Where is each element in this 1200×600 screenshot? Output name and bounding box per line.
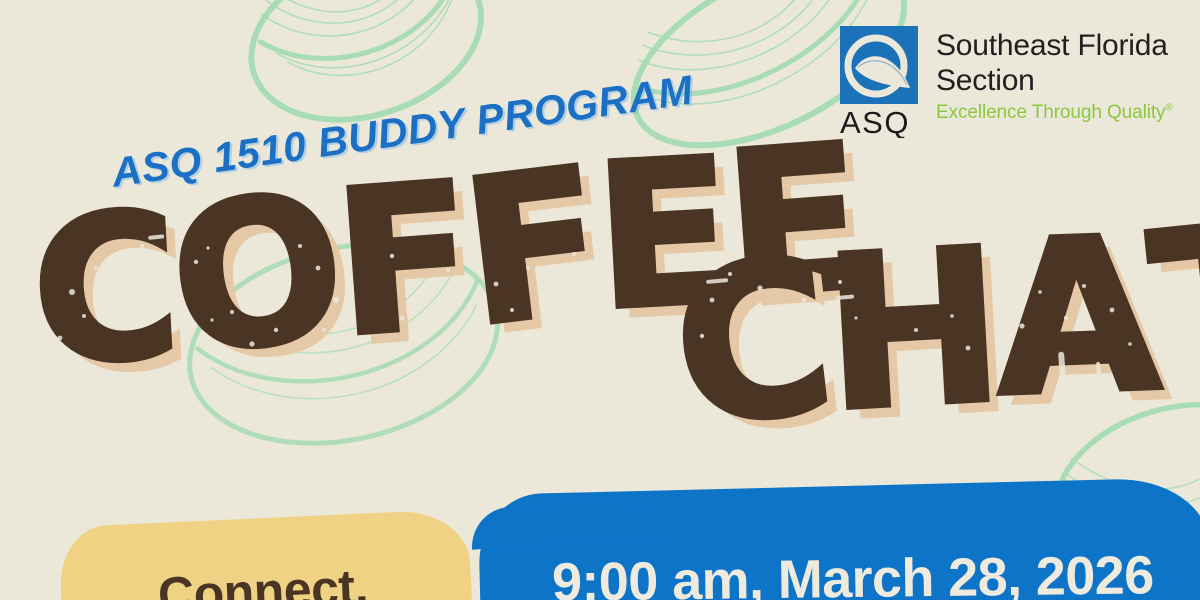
asq-wordmark-text: ASQ <box>840 105 910 138</box>
headline-letter: A <box>992 217 1157 418</box>
asq-logo-lockup: ASQ Southeast Florida Section Excellence… <box>836 26 1173 138</box>
logo-line-2: Section <box>936 63 1173 98</box>
headline-letter: E <box>591 141 731 332</box>
logo-tagline: Excellence Through Quality® <box>936 102 1173 124</box>
headline-letter: O <box>161 174 348 378</box>
asq-logo-text-block: Southeast Florida Section Excellence Thr… <box>936 26 1173 124</box>
headline-letter: C <box>28 195 179 386</box>
registered-mark-icon: ® <box>1165 102 1172 113</box>
logo-line-1: Southeast Florida <box>936 28 1173 63</box>
headline-letter: F <box>329 165 473 358</box>
headline-letter: C <box>665 238 836 449</box>
connect-panel: Connect, <box>62 518 472 600</box>
headline-word-chat: C H A T <box>668 202 1200 446</box>
coffee-bean-icon <box>171 218 516 471</box>
coffee-chat-flyer: ASQ Southeast Florida Section Excellence… <box>0 0 1200 600</box>
headline-letter: T <box>1144 201 1200 409</box>
headline-letter: E <box>719 127 863 320</box>
program-kicker: ASQ 1510 BUDDY PROGRAM <box>109 67 696 197</box>
datetime-panel: 9:00 am, March 28, 2026 <box>480 486 1200 600</box>
asq-q-mark-icon: ASQ <box>836 26 922 138</box>
headline-letter: H <box>819 228 1001 432</box>
headline-letter: F <box>456 150 607 348</box>
logo-tagline-text: Excellence Through Quality <box>936 102 1165 123</box>
event-datetime-text: 9:00 am, March 28, 2026 <box>552 544 1154 600</box>
